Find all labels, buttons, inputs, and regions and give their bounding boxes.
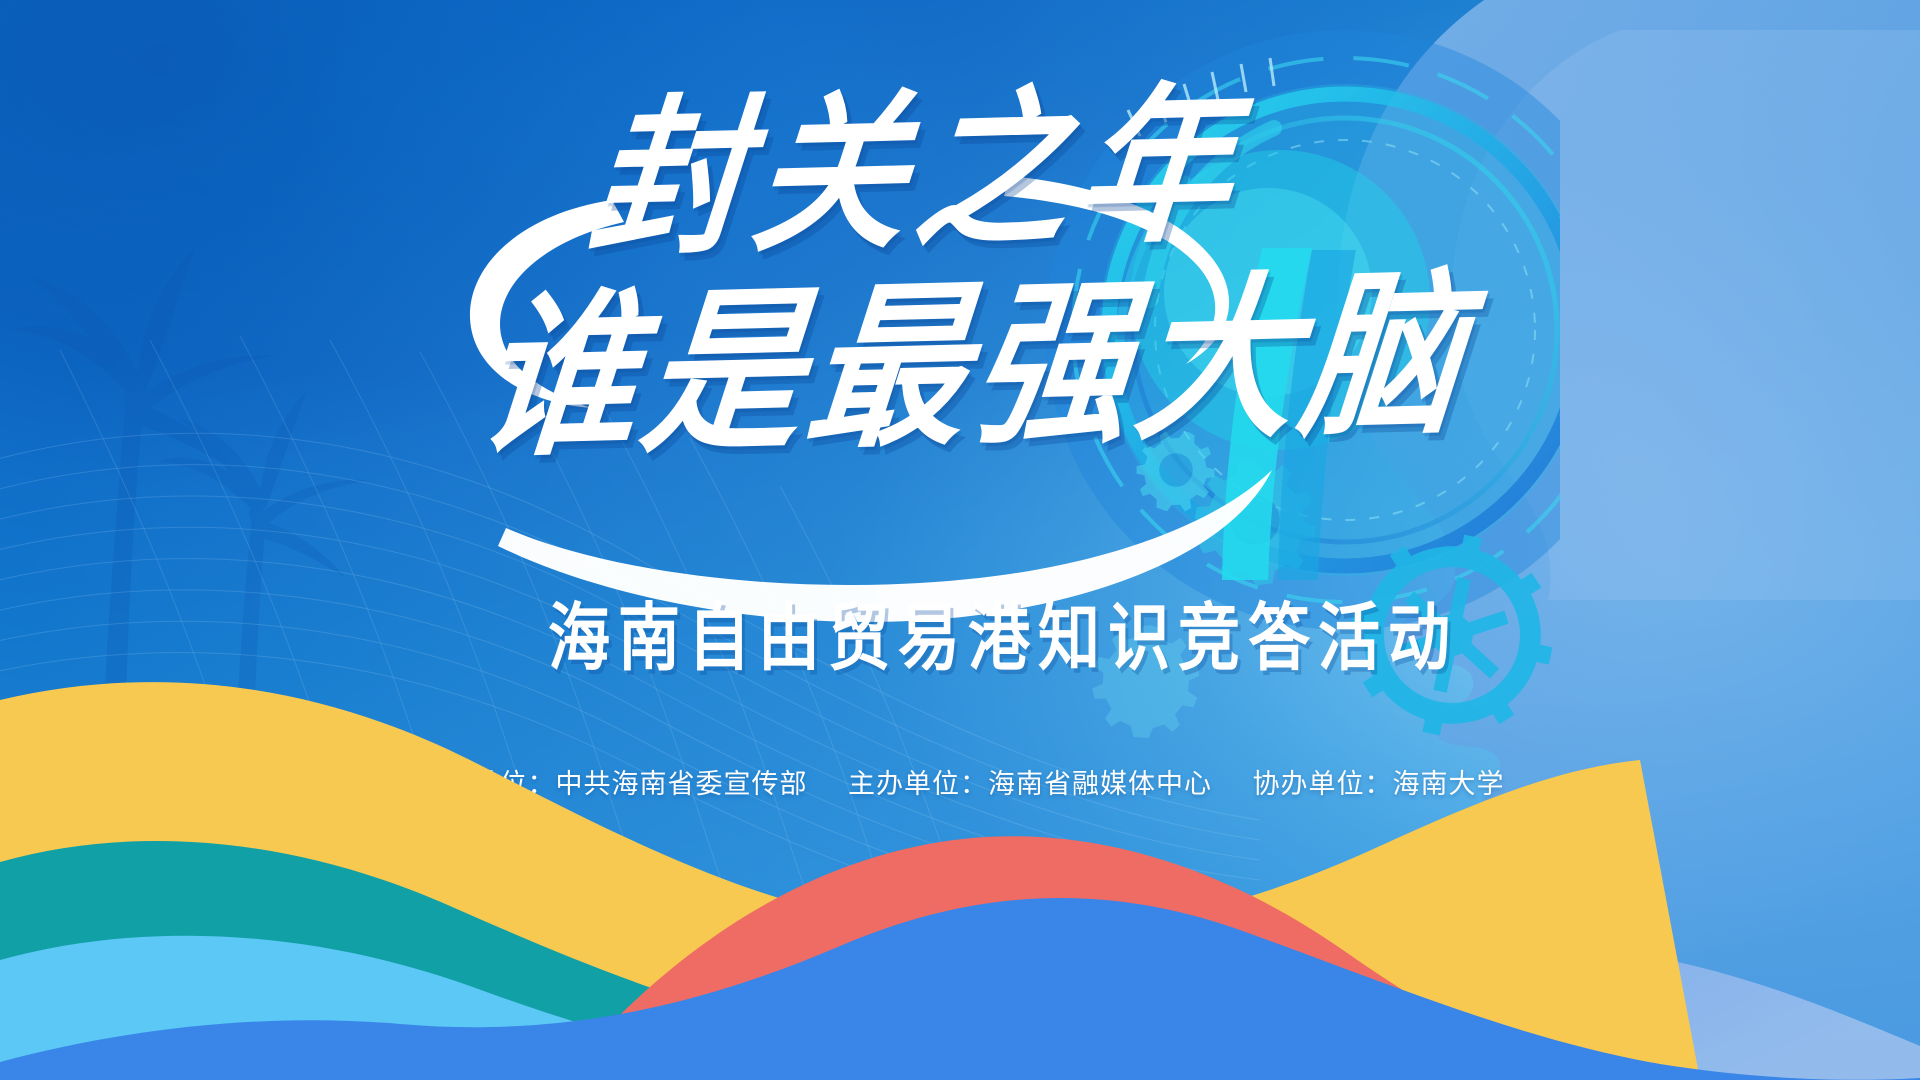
poster-canvas: 封关之年 谁是最强大脑 海南自由贸易港知识竞答活动 指导单位：中共海南省委宣传部… — [0, 0, 1920, 1080]
wave-bands — [0, 0, 1920, 1080]
